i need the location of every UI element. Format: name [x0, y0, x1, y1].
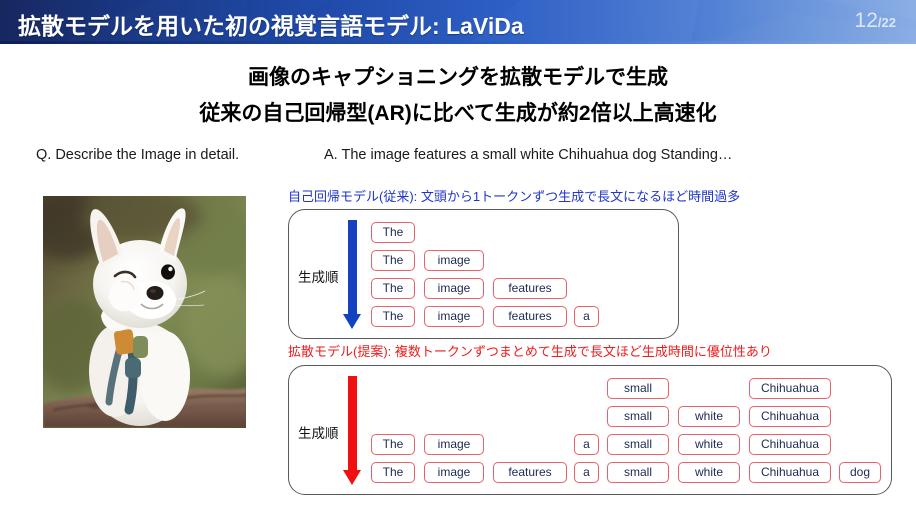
autoregressive-generation-order-label: 生成順 — [298, 266, 339, 286]
autoregressive-token: image — [424, 278, 484, 299]
autoregressive-token: a — [574, 306, 599, 327]
diffusion-token: white — [678, 434, 740, 455]
slide-header-band: 拡散モデルを用いた初の視覚言語モデル: LaViDa 12/22 — [0, 0, 916, 44]
diffusion-token: Chihuahua — [749, 434, 831, 455]
diffusion-token: small — [607, 462, 669, 483]
headline-line-1: 画像のキャプショニングを拡散モデルで生成 — [0, 61, 916, 91]
diffusion-token: white — [678, 462, 740, 483]
question-text: Q. Describe the Image in detail. — [36, 147, 239, 163]
diffusion-token: The — [371, 434, 415, 455]
diffusion-down-arrow-icon — [343, 376, 362, 485]
page-title: 拡散モデルを用いた初の視覚言語モデル: LaViDa — [18, 7, 524, 41]
page-number: 12/22 — [855, 9, 896, 33]
diffusion-token: Chihuahua — [749, 406, 831, 427]
diffusion-caption: 拡散モデル(提案): 複数トークンずつまとめて生成で長文ほど生成時間に優位性あり — [288, 341, 772, 360]
page-number-current: 12 — [855, 9, 878, 32]
diffusion-token: Chihuahua — [749, 462, 831, 483]
autoregressive-token: features — [493, 278, 567, 299]
answer-text: A. The image features a small white Chih… — [324, 147, 732, 163]
diffusion-token: a — [574, 434, 599, 455]
autoregressive-token: features — [493, 306, 567, 327]
diffusion-token: image — [424, 434, 484, 455]
autoregressive-token: The — [371, 250, 415, 271]
diffusion-generation-order-label: 生成順 — [298, 422, 339, 442]
diffusion-token: small — [607, 434, 669, 455]
autoregressive-token: image — [424, 250, 484, 271]
page-number-total: 22 — [882, 15, 896, 30]
diffusion-token: small — [607, 406, 669, 427]
autoregressive-token: The — [371, 306, 415, 327]
diffusion-token: a — [574, 462, 599, 483]
autoregressive-caption: 自己回帰モデル(従来): 文頭から1トークンずつ生成で長文になるほど時間過多 — [288, 186, 740, 205]
diffusion-token: small — [607, 378, 669, 399]
autoregressive-token: The — [371, 278, 415, 299]
diffusion-token: The — [371, 462, 415, 483]
diffusion-token: features — [493, 462, 567, 483]
diffusion-token: image — [424, 462, 484, 483]
diffusion-token: white — [678, 406, 740, 427]
diffusion-token: Chihuahua — [749, 378, 831, 399]
autoregressive-token: image — [424, 306, 484, 327]
autoregressive-token: The — [371, 222, 415, 243]
autoregressive-down-arrow-icon — [343, 220, 362, 329]
chihuahua-photo — [43, 196, 246, 428]
headline-line-2: 従来の自己回帰型(AR)に比べて生成が約2倍以上高速化 — [0, 97, 916, 127]
diffusion-token: dog — [839, 462, 881, 483]
